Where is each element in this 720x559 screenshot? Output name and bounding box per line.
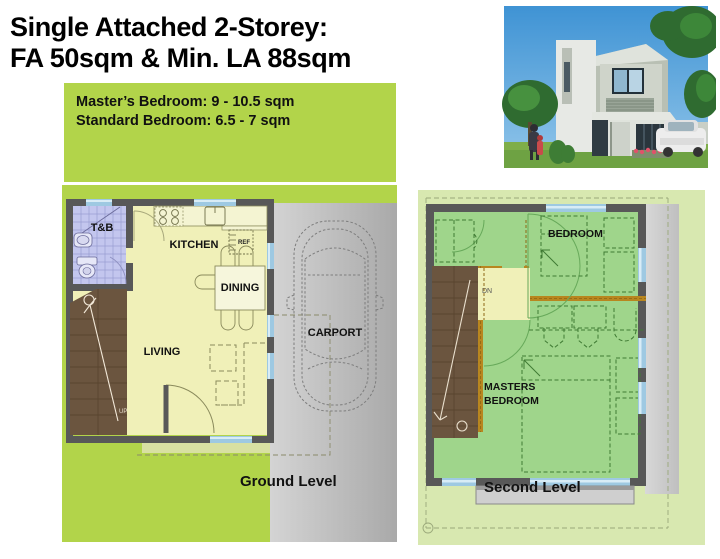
room-label-carport: CARPORT bbox=[308, 327, 363, 339]
ground-floor-plan: T&B REF KITCHEN bbox=[62, 185, 397, 542]
room-label-dining: DINING bbox=[221, 282, 260, 294]
spec-masters-bedroom: Master’s Bedroom: 9 - 10.5 sqm bbox=[76, 93, 294, 112]
page-title: Single Attached 2-Storey: FA 50sqm & Min… bbox=[10, 12, 490, 74]
room-label-masters-line2: BEDROOM bbox=[484, 395, 539, 407]
house-exterior-photo bbox=[496, 4, 716, 170]
room-label-kitchen: KITCHEN bbox=[170, 239, 219, 251]
ground-level-label: Ground Level bbox=[240, 473, 337, 490]
second-level-label: Second Level bbox=[484, 479, 581, 496]
spec-standard-bedroom: Standard Bedroom: 6.5 - 7 sqm bbox=[76, 112, 290, 131]
room-label-living: LIVING bbox=[144, 346, 181, 358]
room-label-ref: REF bbox=[238, 240, 250, 246]
room-label-masters-line1: MASTERS bbox=[484, 381, 535, 393]
spec-banner: Master’s Bedroom: 9 - 10.5 sqm Standard … bbox=[64, 83, 396, 182]
stair-direction-up: UP bbox=[119, 409, 127, 415]
room-label-tb: T&B bbox=[91, 222, 114, 234]
title-line-1: Single Attached 2-Storey: bbox=[10, 12, 490, 43]
room-label-bedroom: BEDROOM bbox=[548, 228, 603, 240]
title-line-2: FA 50sqm & Min. LA 88sqm bbox=[10, 43, 490, 74]
